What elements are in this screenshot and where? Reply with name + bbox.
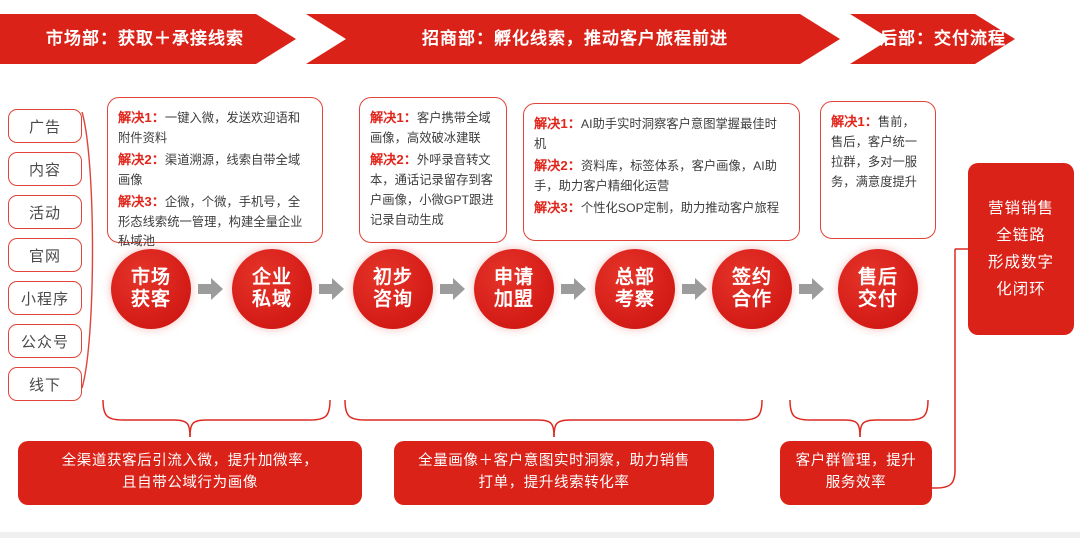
channel-chip-content[interactable]: 内容 — [8, 152, 82, 186]
summary-line-3: 形成数字 — [988, 249, 1054, 276]
stage-line-1: 总部 — [615, 267, 655, 289]
result-line-1: 全渠道获客后引流入微，提升加微率， — [62, 451, 319, 473]
result-line-1: 客户群管理，提升 — [796, 451, 917, 473]
solution-line-1: 解决1：客户携带全域画像，高效破冰建联 — [370, 107, 496, 149]
stage-line-1: 初步 — [373, 267, 413, 289]
flow-arrow-5 — [682, 277, 708, 301]
channel-chip-offline[interactable]: 线下 — [8, 367, 82, 401]
stage-circle-aftersales-delivery[interactable]: 售后 交付 — [838, 249, 918, 329]
channel-chip-website[interactable]: 官网 — [8, 238, 82, 272]
solution-line-3: 解决3：企微，个微，手机号，全形态线索统一管理，构建全量企业私域池 — [118, 191, 312, 253]
solution-line-1: 解决1：一键入微，发送欢迎语和附件资料 — [118, 107, 312, 149]
solution-line-1: 解决1：售前，售后，客户统一拉群，多对一服务，满意度提升 — [831, 111, 925, 193]
flow-arrow-4 — [561, 277, 587, 301]
brace-investment-right — [554, 400, 762, 437]
summary-line-2: 全链路 — [996, 222, 1046, 249]
result-line-2: 且自带公域行为画像 — [62, 473, 319, 495]
channel-chip-ad[interactable]: 广告 — [8, 109, 82, 143]
summary-connector-line — [930, 249, 955, 488]
banner-label-market: 市场部：获取＋承接线索 — [20, 30, 270, 47]
banner-label-investment: 招商部：孵化线索，推动客户旅程前进 — [330, 30, 820, 47]
brace-investment-left — [345, 400, 554, 437]
department-banner-row: 市场部：获取＋承接线索 招商部：孵化线索，推动客户旅程前进 售后部：交付流程 — [0, 0, 1080, 70]
solution-line-1: 解决1：AI助手实时洞察客户意图掌握最佳时机 — [534, 113, 789, 155]
channel-funnel-line — [82, 112, 93, 388]
solution-box-investment: 解决1：AI助手实时洞察客户意图掌握最佳时机 解决2：资料库，标签体系，客户画像… — [523, 103, 800, 241]
result-line-2: 服务效率 — [796, 473, 917, 495]
result-line-2: 打单，提升线索转化率 — [418, 473, 690, 495]
summary-line-4: 化闭环 — [996, 276, 1046, 303]
flow-arrow-3 — [440, 277, 466, 301]
stage-line-1: 市场 — [131, 267, 171, 289]
solution-box-aftersales: 解决1：售前，售后，客户统一拉群，多对一服务，满意度提升 — [820, 101, 936, 239]
flow-arrow-2 — [319, 277, 345, 301]
infographic-root: 市场部：获取＋承接线索 招商部：孵化线索，推动客户旅程前进 售后部：交付流程 广… — [0, 0, 1080, 538]
solution-key: 解决1： — [118, 110, 165, 125]
stage-line-2: 交付 — [858, 289, 898, 311]
solution-line-2: 解决2：资料库，标签体系，客户画像，AI助手，助力客户精细化运营 — [534, 155, 789, 197]
stage-circle-apply-franchise[interactable]: 申请 加盟 — [474, 249, 554, 329]
stage-circle-hq-visit[interactable]: 总部 考察 — [595, 249, 675, 329]
solution-key: 解决2： — [534, 158, 581, 173]
result-box-investment: 全量画像＋客户意图实时洞察，助力销售 打单，提升线索转化率 — [394, 441, 714, 505]
solution-line-2: 解决2：渠道溯源，线索自带全域画像 — [118, 149, 312, 191]
channel-chip-official[interactable]: 公众号 — [8, 324, 82, 358]
result-line-1: 全量画像＋客户意图实时洞察，助力销售 — [418, 451, 690, 473]
solution-key: 解决1： — [370, 110, 417, 125]
stage-line-2: 考察 — [615, 289, 655, 311]
stage-circle-market[interactable]: 市场 获客 — [111, 249, 191, 329]
stage-line-2: 获客 — [131, 289, 171, 311]
stage-circle-private-domain[interactable]: 企业 私域 — [232, 249, 312, 329]
stage-line-1: 签约 — [732, 267, 772, 289]
brace-market-right — [190, 400, 330, 437]
solution-line-2: 解决2：外呼录音转文本，通话记录留存到客户画像，小微GPT跟进记录自动生成 — [370, 149, 496, 231]
solution-key: 解决1： — [534, 116, 581, 131]
channel-chip-event[interactable]: 活动 — [8, 195, 82, 229]
stage-line-2: 加盟 — [494, 289, 534, 311]
brace-aftersales-left — [790, 400, 860, 437]
stage-line-1: 售后 — [858, 267, 898, 289]
flow-arrow-6 — [799, 277, 825, 301]
result-box-market: 全渠道获客后引流入微，提升加微率， 且自带公域行为画像 — [18, 441, 362, 505]
brace-aftersales-right — [860, 400, 928, 437]
stage-line-1: 申请 — [494, 267, 534, 289]
stage-line-2: 私域 — [252, 289, 292, 311]
stage-circle-sign-contract[interactable]: 签约 合作 — [712, 249, 792, 329]
solution-box-consult: 解决1：客户携带全域画像，高效破冰建联 解决2：外呼录音转文本，通话记录留存到客… — [359, 97, 507, 243]
result-box-aftersales: 客户群管理，提升 服务效率 — [780, 441, 932, 505]
stage-circle-initial-consult[interactable]: 初步 咨询 — [353, 249, 433, 329]
channel-chip-miniapp[interactable]: 小程序 — [8, 281, 82, 315]
stage-line-2: 合作 — [732, 289, 772, 311]
solution-text: 个性化SOP定制，助力推动客户旅程 — [581, 201, 779, 215]
stage-line-2: 咨询 — [373, 289, 413, 311]
solution-key: 解决2： — [118, 152, 165, 167]
banner-label-aftersales: 售后部：交付流程 — [862, 30, 987, 47]
footer-strip — [0, 532, 1080, 538]
solution-line-3: 解决3：个性化SOP定制，助力推动客户旅程 — [534, 197, 789, 219]
solution-key: 解决1： — [831, 114, 878, 129]
brace-market-left — [103, 400, 190, 437]
solution-key: 解决3： — [118, 194, 165, 209]
summary-line-1: 营销销售 — [988, 195, 1054, 222]
flow-arrow-1 — [198, 277, 224, 301]
solution-box-market: 解决1：一键入微，发送欢迎语和附件资料 解决2：渠道溯源，线索自带全域画像 解决… — [107, 97, 323, 243]
stage-line-1: 企业 — [252, 267, 292, 289]
summary-box: 营销销售 全链路 形成数字 化闭环 — [968, 163, 1074, 335]
solution-key: 解决3： — [534, 200, 581, 215]
solution-key: 解决2： — [370, 152, 417, 167]
